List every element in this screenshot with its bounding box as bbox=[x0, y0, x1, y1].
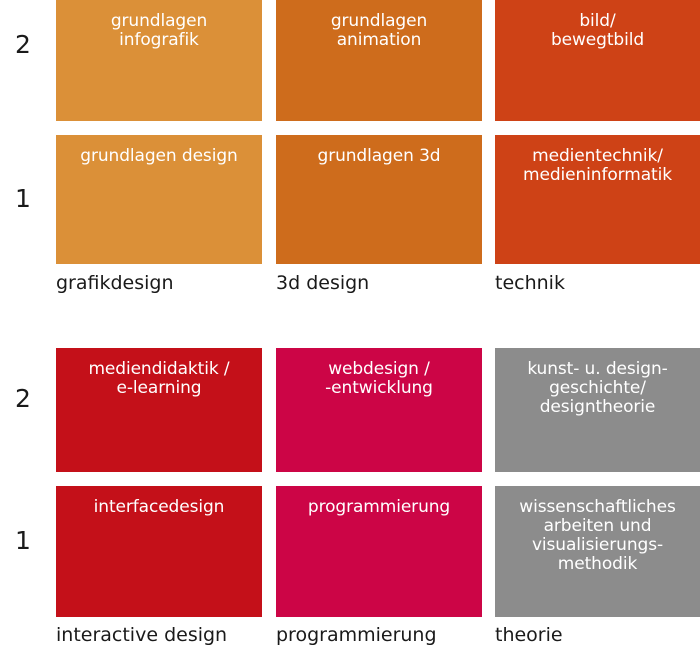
block-label: mediendidaktik / e-learning bbox=[88, 360, 229, 472]
curriculum-matrix: 2 1 grundlagen infografik grundlagen des… bbox=[0, 0, 700, 653]
block-label: interfacedesign bbox=[94, 498, 225, 617]
block-label: medientechnik/ medieninformatik bbox=[523, 147, 672, 264]
block-grundlagen-animation[interactable]: grundlagen animation bbox=[276, 0, 482, 121]
block-label: grundlagen infografik bbox=[111, 12, 207, 121]
block-interfacedesign[interactable]: interfacedesign bbox=[56, 486, 262, 617]
block-bild-bewegtbild[interactable]: bild/ bewegtbild bbox=[495, 0, 700, 121]
block-grundlagen-infografik[interactable]: grundlagen infografik bbox=[56, 0, 262, 121]
row-number-semester-2-lower: 2 bbox=[0, 386, 46, 411]
column-label-grafikdesign: grafikdesign bbox=[56, 274, 262, 293]
block-label: bild/ bewegtbild bbox=[551, 12, 644, 121]
block-mediendidaktik-e-learning[interactable]: mediendidaktik / e-learning bbox=[56, 348, 262, 472]
block-label: programmierung bbox=[308, 498, 450, 617]
column-label-3d-design: 3d design bbox=[276, 274, 482, 293]
column-label-technik: technik bbox=[495, 274, 700, 293]
block-wissenschaftliches-arbeiten[interactable]: wissenschaftliches arbeiten und visualis… bbox=[495, 486, 700, 617]
column-label-interactive-design: interactive design bbox=[56, 626, 262, 645]
group-interaktiv-theorie: 2 1 mediendidaktik / e-learning interfac… bbox=[0, 348, 700, 653]
block-grundlagen-3d[interactable]: grundlagen 3d bbox=[276, 135, 482, 264]
column-label-theorie: theorie bbox=[495, 626, 700, 645]
block-label: wissenschaftliches arbeiten und visualis… bbox=[519, 498, 675, 617]
block-label: grundlagen 3d bbox=[318, 147, 441, 264]
block-label: grundlagen animation bbox=[331, 12, 427, 121]
row-number-semester-2-upper: 2 bbox=[0, 32, 46, 57]
column-label-programmierung: programmierung bbox=[276, 626, 482, 645]
group-design-technik: 2 1 grundlagen infografik grundlagen des… bbox=[0, 0, 700, 300]
block-programmierung[interactable]: programmierung bbox=[276, 486, 482, 617]
row-number-semester-1-upper: 1 bbox=[0, 186, 46, 211]
block-medientechnik-medieninformatik[interactable]: medientechnik/ medieninformatik bbox=[495, 135, 700, 264]
block-webdesign-entwicklung[interactable]: webdesign / -entwicklung bbox=[276, 348, 482, 472]
block-label: grundlagen design bbox=[80, 147, 237, 264]
row-number-semester-1-lower: 1 bbox=[0, 528, 46, 553]
block-label: kunst- u. design- geschichte/ designtheo… bbox=[527, 360, 667, 472]
block-label: webdesign / -entwicklung bbox=[325, 360, 433, 472]
block-grundlagen-design[interactable]: grundlagen design bbox=[56, 135, 262, 264]
block-kunst-designgeschichte-designtheorie[interactable]: kunst- u. design- geschichte/ designtheo… bbox=[495, 348, 700, 472]
